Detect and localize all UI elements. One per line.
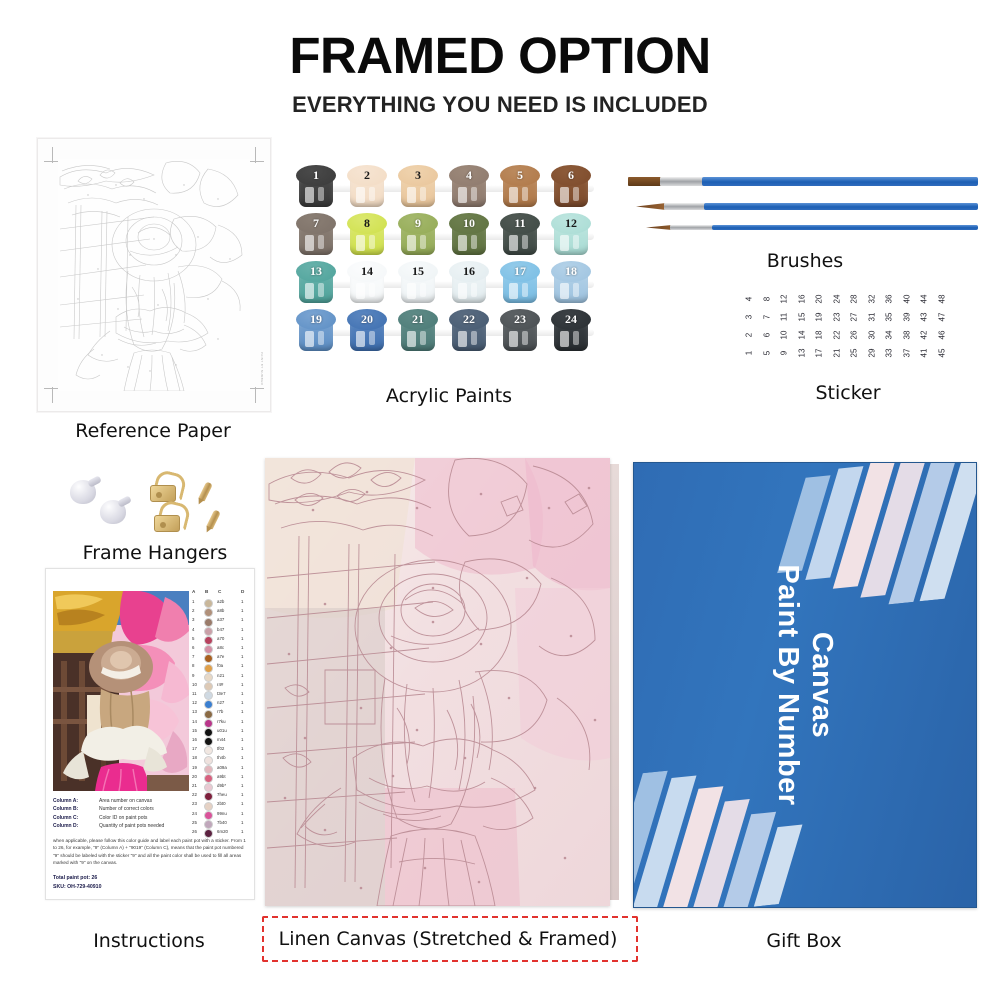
legend-row: 14r7ku1	[191, 718, 249, 727]
sticker-column: 48474645	[935, 290, 950, 362]
paint-pot-highlight	[420, 187, 426, 201]
sticker-number[interactable]: 11	[776, 310, 794, 325]
paint-pot-number: 3	[398, 166, 438, 184]
legend-row: 21d9b*1	[191, 782, 249, 791]
sticker-number[interactable]: 32	[863, 292, 881, 307]
d-ring-hanger-icon	[150, 472, 184, 502]
legend-quantity: 1	[241, 645, 243, 650]
legend-area-number: 19	[192, 765, 197, 770]
legend-color-id: th4b	[217, 755, 226, 760]
paint-pot-1[interactable]: 1	[296, 165, 336, 210]
paint-pot-17[interactable]: 17	[500, 261, 540, 306]
instructions-column-text: Quantity of paint pots needed	[99, 822, 164, 830]
legend-color-id: b47	[217, 627, 224, 632]
legend-quantity: 1	[241, 700, 243, 705]
paint-pot-highlight	[318, 187, 324, 201]
sticker-number[interactable]: 9	[776, 346, 794, 361]
sticker-number[interactable]: 39	[898, 310, 916, 325]
legend-area-number: 13	[192, 709, 197, 714]
legend-quantity: 1	[241, 654, 243, 659]
legend-row: 20a9bt1	[191, 773, 249, 782]
wall-hook-icon	[100, 496, 130, 530]
legend-area-number: 21	[192, 783, 197, 788]
sticker-number[interactable]: 29	[863, 346, 881, 361]
legend-row: 9n211	[191, 672, 249, 681]
instructions-note: when applicable, please follow this colo…	[53, 837, 247, 867]
paint-pot-highlight	[420, 331, 426, 345]
sticker-number[interactable]: 37	[898, 346, 916, 361]
legend-row: 7a7e1	[191, 653, 249, 662]
sticker-number[interactable]: 40	[898, 292, 916, 307]
acrylic-paints-group: 123456789101112131415161718192021222324	[296, 165, 602, 370]
legend-row: 16m441	[191, 736, 249, 745]
legend-row: 10r4#1	[191, 681, 249, 690]
paint-pot-highlight	[471, 283, 477, 297]
paint-pot-highlight	[458, 187, 467, 203]
sticker-number[interactable]: 24	[828, 292, 846, 307]
sticker-number[interactable]: 17	[811, 346, 829, 361]
legend-area-number: 4	[192, 627, 194, 632]
sticker-column: 16151413	[795, 290, 810, 362]
legend-color-id: a8c	[217, 645, 224, 650]
sticker-sheet: 4321876512111091615141320191817242322212…	[742, 290, 954, 362]
legend-row: 1a2b1	[191, 598, 249, 607]
legend-area-number: 2	[192, 608, 194, 613]
gift-box: Canvas Paint By Number	[633, 462, 977, 908]
paint-pot-highlight	[369, 331, 375, 345]
paint-pot-number: 4	[449, 166, 489, 184]
sticker-column: 8765	[760, 290, 775, 362]
brush-flat	[628, 177, 978, 186]
legend-row: 2a8b1	[191, 607, 249, 616]
brushes-group	[628, 165, 978, 255]
legend-color-id: u01u	[217, 728, 227, 733]
page-title: FRAMED OPTION	[0, 30, 1000, 81]
screw-icon	[206, 509, 221, 529]
legend-quantity: 1	[241, 691, 243, 696]
paint-pot-2[interactable]: 2	[347, 165, 387, 210]
legend-area-number: 6	[192, 645, 194, 650]
legend-color-id: n27	[217, 700, 224, 705]
legend-quantity: 1	[241, 737, 243, 742]
legend-quantity: 1	[241, 673, 243, 678]
paint-pot-highlight	[420, 235, 426, 249]
paint-pot-highlight	[407, 283, 416, 299]
sticker-number[interactable]: 13	[793, 346, 811, 361]
instructions-column-text: Color ID on paint pots	[99, 814, 147, 822]
sticker-number[interactable]: 4	[741, 292, 759, 307]
caption-brushes: Brushes	[700, 250, 910, 272]
sticker-column: 28272625	[847, 290, 862, 362]
legend-area-number: 9	[192, 673, 194, 678]
legend-color-id: a8b	[217, 608, 224, 613]
paint-pot-5[interactable]: 5	[500, 165, 540, 210]
paint-pot-number: 19	[296, 310, 336, 328]
screw-icon	[198, 481, 213, 501]
paint-pot-highlight	[318, 235, 324, 249]
legend-header-d: D	[241, 589, 244, 594]
paint-pot-highlight	[369, 235, 375, 249]
sticker-number[interactable]: 36	[881, 292, 899, 307]
paint-pot-10[interactable]: 10	[449, 213, 489, 258]
legend-row: 18th4b1	[191, 754, 249, 763]
total-paint-pot-line: Total paint pot: 26	[53, 874, 247, 883]
brush-liner	[646, 225, 978, 230]
instructions-color-reference-image	[53, 591, 189, 791]
paint-pot-highlight	[356, 283, 365, 299]
sticker-number[interactable]: 18	[811, 328, 829, 343]
legend-area-number: 16	[192, 737, 197, 742]
paint-pot-highlight	[560, 331, 569, 347]
paint-pot-number: 10	[449, 214, 489, 232]
paint-pot-number: 5	[500, 166, 540, 184]
paint-pot-row: 123456	[296, 165, 602, 213]
paint-pot-row: 789101112	[296, 213, 602, 261]
legend-row: 8f0a1	[191, 662, 249, 671]
caption-instructions: Instructions	[45, 930, 253, 952]
paint-pot-number: 6	[551, 166, 591, 184]
paint-pot-21[interactable]: 21	[398, 309, 438, 354]
sticker-number[interactable]: 21	[828, 346, 846, 361]
paint-pot-highlight	[458, 235, 467, 251]
paint-pot-7[interactable]: 7	[296, 213, 336, 258]
paint-pot-number: 15	[398, 262, 438, 280]
paint-pot-highlight	[560, 283, 569, 299]
paint-pot-highlight	[509, 187, 518, 203]
legend-area-number: 10	[192, 682, 197, 687]
sticker-number[interactable]: 33	[881, 346, 899, 361]
caption-linen-canvas: Linen Canvas (Stretched & Framed)	[262, 928, 634, 950]
paint-pot-19[interactable]: 19	[296, 309, 336, 354]
paint-pot-3[interactable]: 3	[398, 165, 438, 210]
paint-pot-highlight	[471, 235, 477, 249]
legend-color-id: a2b	[217, 599, 224, 604]
paint-pot-number: 24	[551, 310, 591, 328]
sticker-number[interactable]: 43	[916, 310, 934, 325]
instructions-column-row: Column C:Color ID on paint pots	[53, 814, 247, 822]
paint-pot-highlight	[318, 331, 324, 345]
legend-area-number: 12	[192, 700, 197, 705]
sticker-number[interactable]: 46	[933, 328, 951, 343]
sticker-number[interactable]: 47	[933, 310, 951, 325]
paint-pot-number: 21	[398, 310, 438, 328]
legend-header-a: A	[192, 589, 195, 594]
sticker-number[interactable]: 1	[741, 346, 759, 361]
paint-pot-11[interactable]: 11	[500, 213, 540, 258]
frame-hangers-group	[62, 470, 242, 550]
legend-area-number: 11	[192, 691, 197, 696]
reference-paper-sheet: PAINT BY NUMBER	[37, 138, 271, 412]
paint-pot-highlight	[356, 235, 365, 251]
sticker-column: 1211109	[777, 290, 792, 362]
paint-pot-highlight	[458, 331, 467, 347]
paint-pot-number: 23	[500, 310, 540, 328]
paint-pot-highlight	[509, 283, 518, 299]
paint-pot-highlight	[509, 235, 518, 251]
paint-pot-number: 17	[500, 262, 540, 280]
legend-row: 4b471	[191, 626, 249, 635]
paint-pot-number: 8	[347, 214, 387, 232]
reference-paper-watermark: PAINT BY NUMBER	[260, 352, 264, 385]
paint-pot-number: 1	[296, 166, 336, 184]
gift-box-title-line1: Canvas	[805, 564, 839, 805]
sticker-number[interactable]: 45	[933, 346, 951, 361]
sticker-number[interactable]: 34	[881, 328, 899, 343]
legend-row: 15u01u1	[191, 727, 249, 736]
paint-pot-number: 2	[347, 166, 387, 184]
paint-pot-highlight	[369, 283, 375, 297]
legend-quantity: 1	[241, 774, 243, 779]
sticker-number[interactable]: 8	[758, 292, 776, 307]
paint-pot-8[interactable]: 8	[347, 213, 387, 258]
instructions-column-row: Column D:Quantity of paint pots needed	[53, 822, 247, 830]
paint-pot-23[interactable]: 23	[500, 309, 540, 354]
sticker-number[interactable]: 28	[846, 292, 864, 307]
product-infographic: FRAMED OPTION EVERYTHING YOU NEED IS INC…	[0, 0, 1000, 1000]
sticker-number[interactable]: 41	[916, 346, 934, 361]
paint-pot-number: 18	[551, 262, 591, 280]
paint-pot-highlight	[522, 235, 528, 249]
legend-row: 3a371	[191, 616, 249, 625]
legend-area-number: 17	[192, 746, 197, 751]
paint-pot-highlight	[407, 331, 416, 347]
sticker-column: 36353433	[882, 290, 897, 362]
paint-pot-4[interactable]: 4	[449, 165, 489, 210]
sticker-number[interactable]: 30	[863, 328, 881, 343]
gift-box-title: Canvas Paint By Number	[771, 564, 839, 805]
paint-pot-16[interactable]: 16	[449, 261, 489, 306]
legend-quantity: 1	[241, 663, 243, 668]
legend-quantity: 1	[241, 608, 243, 613]
legend-area-number: 15	[192, 728, 197, 733]
paint-pot-highlight	[560, 187, 569, 203]
legend-header-row: ABCD	[191, 589, 249, 597]
wall-hook-icon	[70, 476, 100, 510]
paint-pot-highlight	[458, 283, 467, 299]
legend-color-id: a7e	[217, 654, 224, 659]
sticker-number[interactable]: 15	[793, 310, 811, 325]
sticker-number[interactable]: 25	[846, 346, 864, 361]
sticker-number[interactable]: 12	[776, 292, 794, 307]
d-ring-hanger-icon	[154, 502, 188, 532]
paint-pot-highlight	[573, 235, 579, 249]
paint-pot-number: 22	[449, 310, 489, 328]
legend-quantity: 1	[241, 617, 243, 622]
caption-reference-paper: Reference Paper	[37, 420, 269, 442]
paint-pot-18[interactable]: 18	[551, 261, 591, 306]
gift-box-title-line2: Paint By Number	[771, 564, 805, 805]
paint-pot-highlight	[407, 235, 416, 251]
sticker-column: 32313029	[865, 290, 880, 362]
caption-gift-box: Gift Box	[633, 930, 975, 952]
sticker-number[interactable]: 23	[828, 310, 846, 325]
legend-color-id: tf02	[217, 746, 224, 751]
paint-pot-number: 11	[500, 214, 540, 232]
paint-pot-highlight	[573, 187, 579, 201]
legend-quantity: 1	[241, 755, 243, 760]
legend-quantity: 1	[241, 765, 243, 770]
paint-pot-highlight	[522, 187, 528, 201]
sticker-number[interactable]: 48	[933, 292, 951, 307]
legend-area-number: 7	[192, 654, 194, 659]
paint-pot-number: 14	[347, 262, 387, 280]
instructions-text-block: Column A:Area number on canvasColumn B:N…	[53, 797, 247, 891]
legend-quantity: 1	[241, 636, 243, 641]
page-subtitle: EVERYTHING YOU NEED IS INCLUDED	[0, 92, 1000, 118]
legend-row: 17tf021	[191, 745, 249, 754]
paint-pot-highlight	[305, 187, 314, 203]
legend-color-id: r7b	[217, 709, 223, 714]
legend-area-number: 20	[192, 774, 197, 779]
linen-canvas	[265, 458, 610, 906]
legend-color-id: t3e7	[217, 691, 226, 696]
sticker-number[interactable]: 35	[881, 310, 899, 325]
legend-quantity: 1	[241, 746, 243, 751]
instructions-column-label: Column C:	[53, 814, 78, 822]
instructions-column-text: Number of correct colors	[99, 805, 154, 813]
legend-row: 6a8c1	[191, 644, 249, 653]
sticker-column: 44434241	[917, 290, 932, 362]
instructions-sheet: ABCD1a2b12a8b13a3714b4715a7016a8c17a7e18…	[45, 568, 255, 900]
legend-color-id: a37	[217, 617, 224, 622]
paint-pot-highlight	[305, 283, 314, 299]
sticker-number[interactable]: 42	[916, 328, 934, 343]
legend-area-number: 14	[192, 719, 197, 724]
sticker-number[interactable]: 10	[776, 328, 794, 343]
paint-pot-highlight	[369, 187, 375, 201]
instructions-column-row: Column B:Number of correct colors	[53, 805, 247, 813]
sticker-number[interactable]: 19	[811, 310, 829, 325]
caption-acrylic-paints: Acrylic Paints	[296, 385, 602, 407]
legend-quantity: 1	[241, 627, 243, 632]
paint-pot-number: 12	[551, 214, 591, 232]
legend-row: 19a09a1	[191, 764, 249, 773]
instructions-column-row: Column A:Area number on canvas	[53, 797, 247, 805]
sku-line: SKU: OH-729-40910	[53, 883, 247, 892]
legend-color-id: n21	[217, 673, 224, 678]
sticker-number[interactable]: 2	[741, 328, 759, 343]
paint-pot-24[interactable]: 24	[551, 309, 591, 354]
instructions-column-label: Column D:	[53, 822, 78, 830]
paint-pot-highlight	[420, 283, 426, 297]
paint-pot-row: 131415161718	[296, 261, 602, 309]
sticker-number[interactable]: 22	[828, 328, 846, 343]
paint-pot-highlight	[522, 331, 528, 345]
sticker-column: 20191817	[812, 290, 827, 362]
caption-sticker: Sticker	[742, 382, 954, 404]
paint-pot-15[interactable]: 15	[398, 261, 438, 306]
legend-quantity: 1	[241, 709, 243, 714]
sticker-number[interactable]: 5	[758, 346, 776, 361]
legend-row: 5a701	[191, 635, 249, 644]
legend-quantity: 1	[241, 719, 243, 724]
legend-color-id: m44	[217, 737, 226, 742]
sticker-column: 4321	[742, 290, 757, 362]
sticker-number[interactable]: 7	[758, 310, 776, 325]
paint-pot-highlight	[573, 331, 579, 345]
paint-pot-highlight	[522, 283, 528, 297]
legend-row: 12n271	[191, 699, 249, 708]
legend-header-b: B	[205, 589, 208, 594]
brush-round	[636, 203, 978, 210]
legend-quantity: 1	[241, 728, 243, 733]
instructions-column-label: Column B:	[53, 805, 78, 813]
legend-area-number: 3	[192, 617, 194, 622]
legend-area-number: 1	[192, 599, 194, 604]
legend-quantity: 1	[241, 783, 243, 788]
legend-quantity: 1	[241, 682, 243, 687]
sticker-number[interactable]: 31	[863, 310, 881, 325]
paint-pot-20[interactable]: 20	[347, 309, 387, 354]
sticker-number[interactable]: 6	[758, 328, 776, 343]
paint-pot-highlight	[356, 331, 365, 347]
legend-area-number: 5	[192, 636, 194, 641]
paint-pot-highlight	[305, 235, 314, 251]
paint-pot-6[interactable]: 6	[551, 165, 591, 210]
instructions-column-label: Column A:	[53, 797, 78, 805]
paint-pot-number: 9	[398, 214, 438, 232]
legend-color-id: f0a	[217, 663, 223, 668]
sticker-number[interactable]: 14	[793, 328, 811, 343]
legend-color-id: a9bt	[217, 774, 226, 779]
paint-pot-highlight	[407, 187, 416, 203]
paint-pot-highlight	[509, 331, 518, 347]
sticker-number[interactable]: 44	[916, 292, 934, 307]
reference-paper-lineart	[58, 159, 250, 391]
sticker-column: 40393837	[900, 290, 915, 362]
paint-pot-highlight	[471, 187, 477, 201]
sticker-number[interactable]: 20	[811, 292, 829, 307]
legend-header-c: C	[218, 589, 221, 594]
paint-pot-9[interactable]: 9	[398, 213, 438, 258]
sticker-number[interactable]: 26	[846, 328, 864, 343]
paint-pot-number: 13	[296, 262, 336, 280]
paint-pot-highlight	[573, 283, 579, 297]
legend-color-id: a09a	[217, 765, 227, 770]
paint-pot-highlight	[305, 331, 314, 347]
paint-pot-13[interactable]: 13	[296, 261, 336, 306]
paint-pot-highlight	[356, 187, 365, 203]
legend-quantity: 1	[241, 599, 243, 604]
caption-frame-hangers: Frame Hangers	[40, 542, 270, 564]
sticker-number[interactable]: 27	[846, 310, 864, 325]
legend-color-id: r7ku	[217, 719, 226, 724]
legend-area-number: 18	[192, 755, 197, 760]
legend-color-id: a70	[217, 636, 224, 641]
paint-pot-number: 16	[449, 262, 489, 280]
paint-pot-number: 7	[296, 214, 336, 232]
paint-pot-highlight	[560, 235, 569, 251]
paint-pot-12[interactable]: 12	[551, 213, 591, 258]
paint-pot-14[interactable]: 14	[347, 261, 387, 306]
canvas-side-edge	[610, 464, 619, 900]
legend-row: 11t3e71	[191, 690, 249, 699]
legend-color-id: d9b*	[217, 783, 226, 788]
paint-pot-row: 192021222324	[296, 309, 602, 357]
legend-area-number: 8	[192, 663, 194, 668]
paint-pot-number: 20	[347, 310, 387, 328]
canvas-printed-outline	[265, 458, 610, 906]
legend-color-id: r4#	[217, 682, 223, 687]
paint-pot-22[interactable]: 22	[449, 309, 489, 354]
sticker-number[interactable]: 38	[898, 328, 916, 343]
legend-row: 13r7b1	[191, 708, 249, 717]
instructions-column-text: Area number on canvas	[99, 797, 152, 805]
sticker-number[interactable]: 3	[741, 310, 759, 325]
sticker-column: 24232221	[830, 290, 845, 362]
paint-pot-highlight	[471, 331, 477, 345]
sticker-number[interactable]: 16	[793, 292, 811, 307]
